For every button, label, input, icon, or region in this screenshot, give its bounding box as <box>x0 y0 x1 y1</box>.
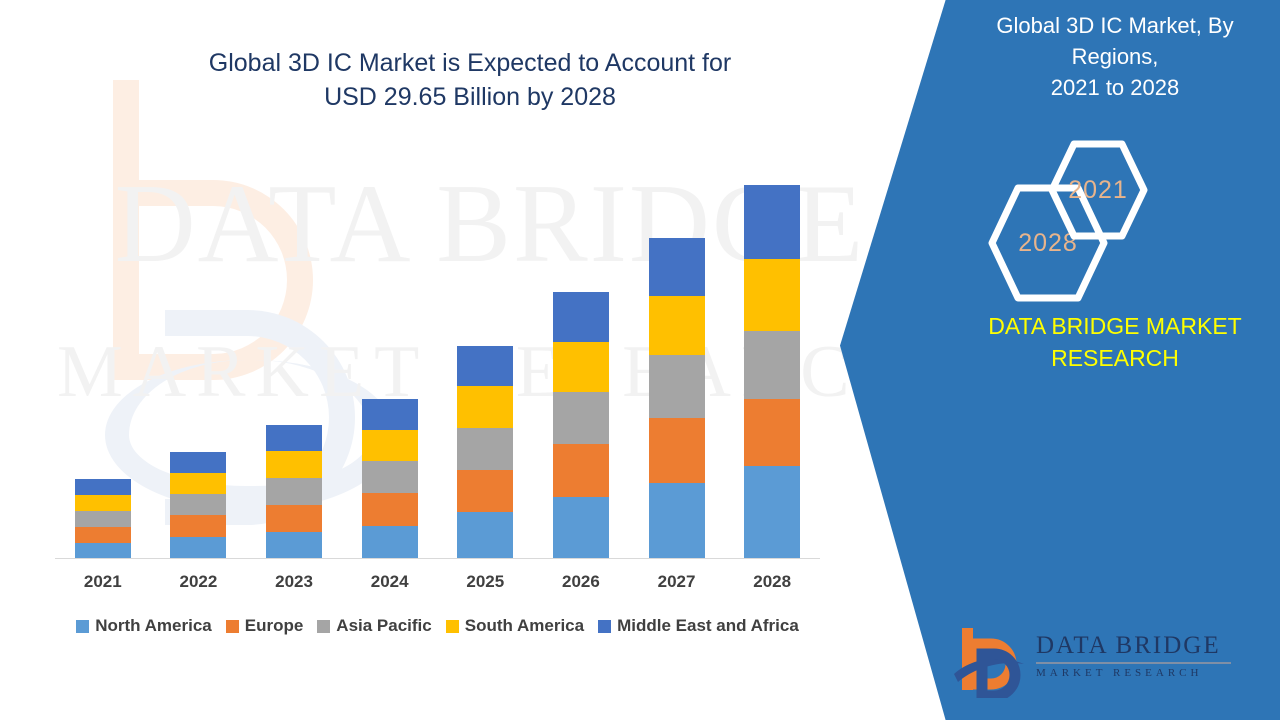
bar-segment[interactable] <box>457 346 513 386</box>
bar-segment[interactable] <box>362 399 418 430</box>
stacked-bar-chart <box>55 150 820 559</box>
x-tick-2028: 2028 <box>727 572 817 592</box>
bar-segment[interactable] <box>649 483 705 559</box>
logo-monogram-icon <box>952 624 1028 698</box>
logo-name: DATA BRIDGE <box>1036 632 1246 660</box>
x-axis-line <box>55 558 820 559</box>
bar-segment[interactable] <box>649 418 705 483</box>
bar-segment[interactable] <box>553 292 609 342</box>
bar-segment[interactable] <box>362 430 418 461</box>
legend-item-asia-pacific[interactable]: Asia Pacific <box>317 616 431 636</box>
legend-label: South America <box>465 616 584 636</box>
legend-item-middle-east-and-africa[interactable]: Middle East and Africa <box>598 616 799 636</box>
bar-segment[interactable] <box>457 512 513 559</box>
chart-title: Global 3D IC Market is Expected to Accou… <box>140 46 800 114</box>
legend-label: North America <box>95 616 212 636</box>
side-panel-title: Global 3D IC Market, By Regions,2021 to … <box>960 10 1270 103</box>
bar-segment[interactable] <box>75 495 131 511</box>
bar-segment[interactable] <box>744 331 800 399</box>
bar-segment[interactable] <box>75 543 131 559</box>
bar-2022[interactable] <box>170 452 226 559</box>
legend-item-europe[interactable]: Europe <box>226 616 304 636</box>
bar-segment[interactable] <box>457 470 513 512</box>
legend-item-south-america[interactable]: South America <box>446 616 584 636</box>
bar-2023[interactable] <box>266 425 322 559</box>
bar-segment[interactable] <box>744 259 800 331</box>
bar-2027[interactable] <box>649 238 705 559</box>
bar-segment[interactable] <box>362 493 418 526</box>
x-tick-2025: 2025 <box>440 572 530 592</box>
bar-2021[interactable] <box>75 479 131 559</box>
legend-label: Asia Pacific <box>336 616 431 636</box>
bar-segment[interactable] <box>553 342 609 392</box>
x-tick-2022: 2022 <box>153 572 243 592</box>
x-axis-tick-labels: 20212022202320242025202620272028 <box>55 572 820 598</box>
bar-segment[interactable] <box>75 527 131 543</box>
bar-segment[interactable] <box>266 451 322 478</box>
legend-swatch-icon <box>317 620 330 633</box>
infographic-page: DATA BRIDGE MARKET RESEARCH Global 3D IC… <box>0 0 1280 720</box>
bar-segment[interactable] <box>170 537 226 559</box>
bar-segment[interactable] <box>457 386 513 428</box>
x-tick-2021: 2021 <box>58 572 148 592</box>
chart-panel: DATA BRIDGE MARKET RESEARCH Global 3D IC… <box>0 0 980 720</box>
bar-2024[interactable] <box>362 399 418 559</box>
bar-segment[interactable] <box>553 444 609 497</box>
logo-divider <box>1036 662 1231 664</box>
bar-segment[interactable] <box>170 494 226 515</box>
x-tick-2024: 2024 <box>345 572 435 592</box>
bar-2028[interactable] <box>744 185 800 559</box>
bar-segment[interactable] <box>649 355 705 418</box>
x-tick-2027: 2027 <box>632 572 722 592</box>
bar-segment[interactable] <box>75 479 131 495</box>
bar-segment[interactable] <box>457 428 513 470</box>
brand-name-text: DATA BRIDGE MARKETRESEARCH <box>960 310 1270 374</box>
bar-segment[interactable] <box>266 478 322 505</box>
x-tick-2026: 2026 <box>536 572 626 592</box>
hexagon-start-year-label: 2021 <box>1068 176 1128 205</box>
hexagon-start-year: 2021 <box>1048 140 1148 240</box>
bar-segment[interactable] <box>553 392 609 444</box>
bar-segment[interactable] <box>170 452 226 473</box>
legend-swatch-icon <box>226 620 239 633</box>
bar-segment[interactable] <box>266 505 322 532</box>
bar-segment[interactable] <box>744 399 800 466</box>
bar-segment[interactable] <box>362 461 418 493</box>
legend-label: Europe <box>245 616 304 636</box>
bar-segment[interactable] <box>75 511 131 527</box>
x-tick-2023: 2023 <box>249 572 339 592</box>
bar-segment[interactable] <box>744 466 800 559</box>
legend-swatch-icon <box>446 620 459 633</box>
bar-2025[interactable] <box>457 346 513 559</box>
legend-swatch-icon <box>76 620 89 633</box>
bar-segment[interactable] <box>266 532 322 559</box>
bar-segment[interactable] <box>170 473 226 494</box>
bar-segment[interactable] <box>744 185 800 259</box>
logo-wordmark: DATA BRIDGE MARKET RESEARCH <box>1036 632 1246 680</box>
logo-subtitle: MARKET RESEARCH <box>1036 667 1246 680</box>
legend-item-north-america[interactable]: North America <box>76 616 212 636</box>
bar-2026[interactable] <box>553 292 609 559</box>
legend-label: Middle East and Africa <box>617 616 799 636</box>
bar-segment[interactable] <box>649 296 705 355</box>
legend-swatch-icon <box>598 620 611 633</box>
bar-segment[interactable] <box>170 515 226 537</box>
bar-segment[interactable] <box>362 526 418 559</box>
bar-segment[interactable] <box>553 497 609 559</box>
company-logo: DATA BRIDGE MARKET RESEARCH <box>952 622 1252 702</box>
bar-segment[interactable] <box>649 238 705 296</box>
bar-segment[interactable] <box>266 425 322 451</box>
chart-legend: North AmericaEuropeAsia PacificSouth Ame… <box>55 616 820 636</box>
